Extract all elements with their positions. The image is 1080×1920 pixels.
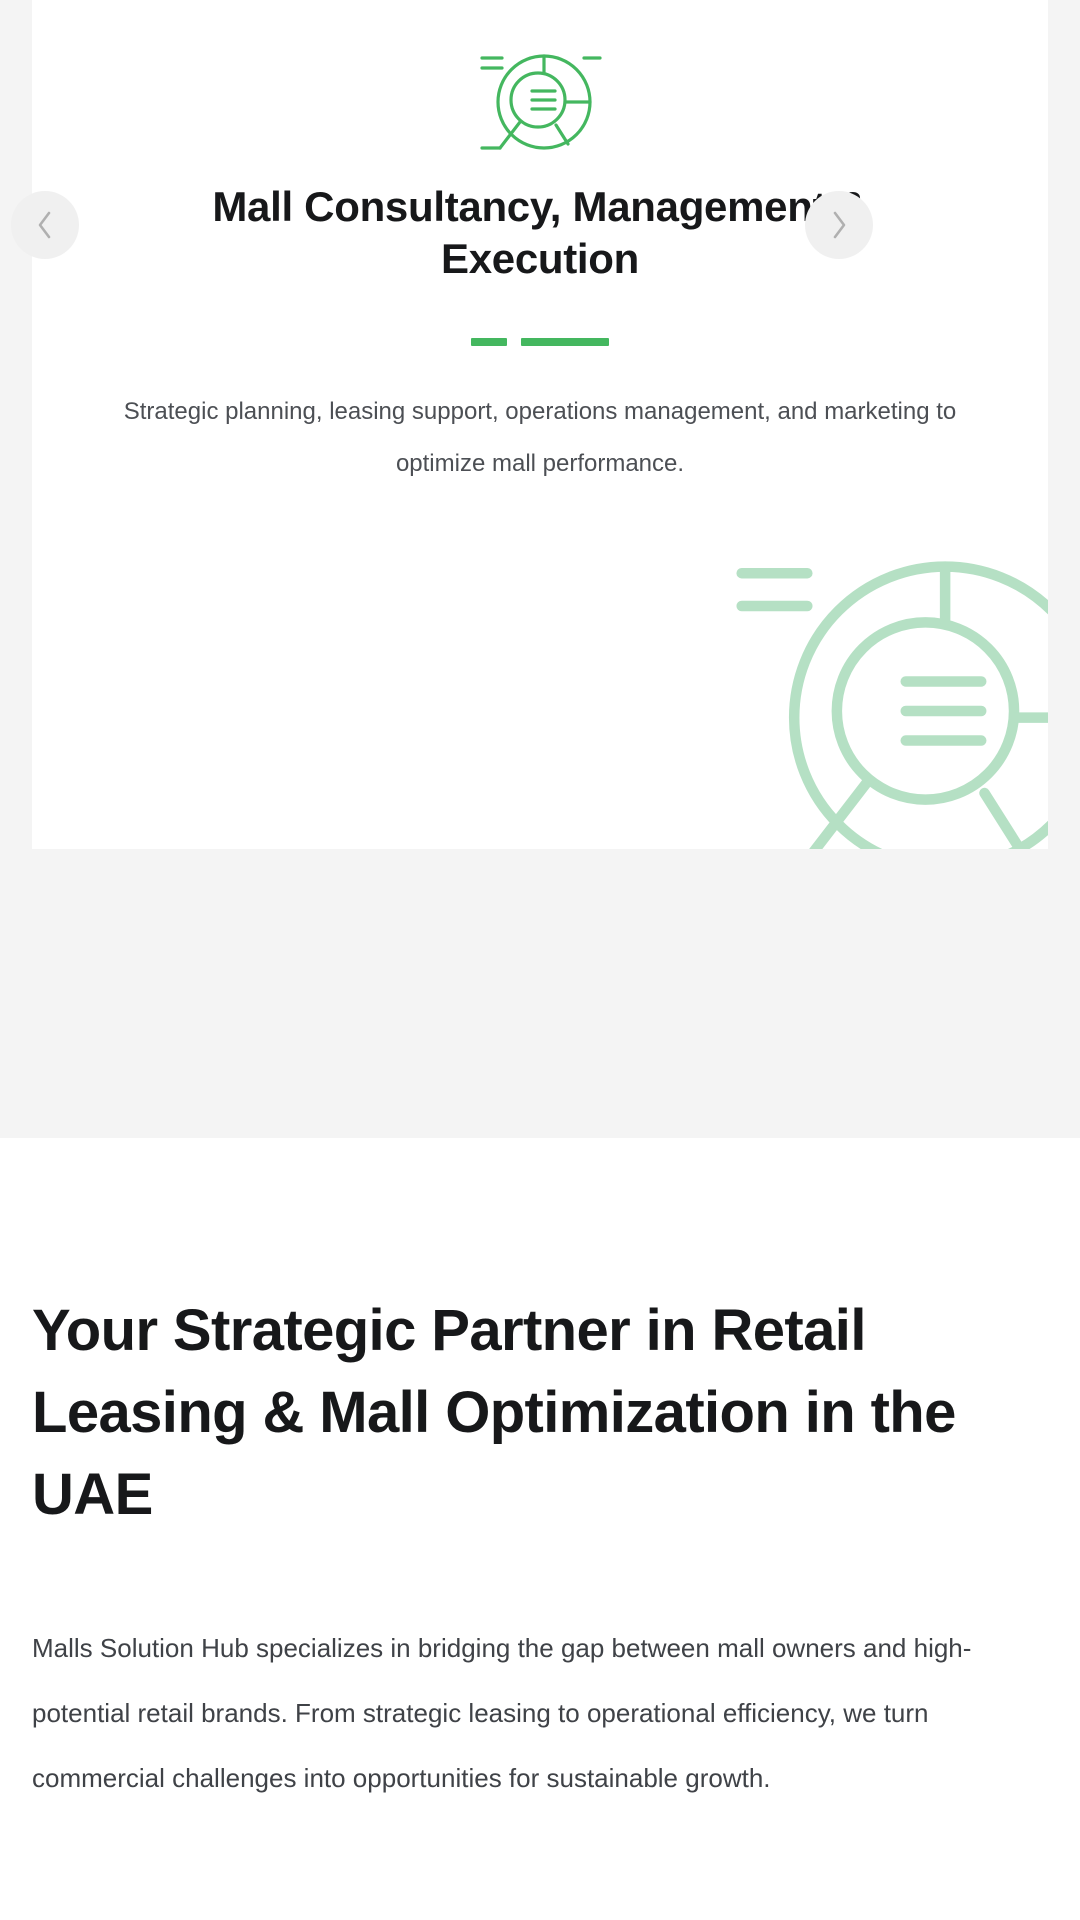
carousel-next-button[interactable] — [805, 191, 873, 259]
intro-section: Your Strategic Partner in Retail Leasing… — [0, 1138, 1080, 1920]
divider-bar-long — [521, 338, 609, 346]
service-slide-description: Strategic planning, leasing support, ope… — [118, 386, 962, 490]
service-slide-content: Mall Consultancy, Management & Execution… — [32, 0, 1048, 849]
donut-chart-analysis-icon — [476, 36, 604, 164]
chevron-right-icon — [828, 208, 850, 242]
services-carousel-section: Mall Consultancy, Management & Execution… — [0, 0, 1080, 1138]
service-slide-divider — [32, 338, 1048, 346]
divider-bar-short — [471, 338, 507, 346]
intro-heading: Your Strategic Partner in Retail Leasing… — [32, 1290, 1020, 1536]
service-slide-card[interactable]: Mall Consultancy, Management & Execution… — [32, 0, 1048, 849]
chevron-left-icon — [34, 208, 56, 242]
carousel-prev-button[interactable] — [11, 191, 79, 259]
intro-body-text: Malls Solution Hub specializes in bridgi… — [32, 1616, 1032, 1811]
